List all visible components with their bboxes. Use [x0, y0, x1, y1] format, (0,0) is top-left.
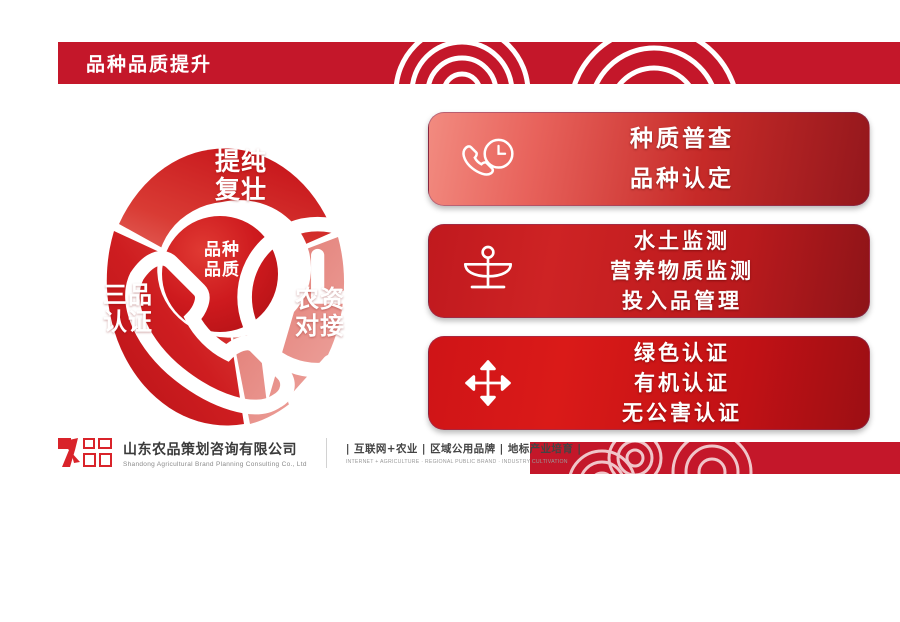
- page-title: 品种品质提升: [86, 50, 212, 77]
- four-arrows-icon: [429, 356, 547, 410]
- footer-band: [530, 442, 900, 474]
- card-monitoring[interactable]: 水土监测 营养物质监测 投入品管理: [428, 224, 870, 318]
- card-germplasm-text: 种质普查 品种认定: [547, 119, 869, 200]
- footer-tagline: | 互联网+农业 | 区域公用品牌 | 地标产业培育 | INTERNET + …: [346, 441, 582, 465]
- balance-scale-icon: [429, 244, 547, 298]
- card-certification[interactable]: 绿色认证 有机认证 无公害认证: [428, 336, 870, 430]
- center-disc[interactable]: [162, 216, 278, 332]
- header-band: 品种品质提升: [58, 42, 900, 84]
- company-name: 山东农品策划咨询有限公司 Shandong Agricultural Brand…: [123, 439, 307, 468]
- card-monitoring-text: 水土监测 营养物质监测 投入品管理: [547, 226, 869, 315]
- donut-svg: [62, 136, 382, 426]
- footer-rings-decoration: [530, 442, 900, 474]
- footer-divider: [326, 438, 327, 468]
- nongpin-logo: [58, 436, 114, 470]
- footer-brand: 山东农品策划咨询有限公司 Shandong Agricultural Brand…: [58, 436, 582, 470]
- slide-canvas: 品种品质提升: [0, 0, 900, 506]
- card-list: 种质普查 品种认定 水土监测 营养物质监测 投入品管理: [428, 112, 870, 448]
- footer: 山东农品策划咨询有限公司 Shandong Agricultural Brand…: [0, 432, 900, 506]
- card-certification-text: 绿色认证 有机认证 无公害认证: [547, 338, 869, 427]
- phone-clock-icon: [429, 134, 547, 184]
- circular-diagram: 提纯 复壮 三品 认证 农资 对接 品种 品质: [62, 136, 382, 426]
- card-germplasm[interactable]: 种质普查 品种认定: [428, 112, 870, 206]
